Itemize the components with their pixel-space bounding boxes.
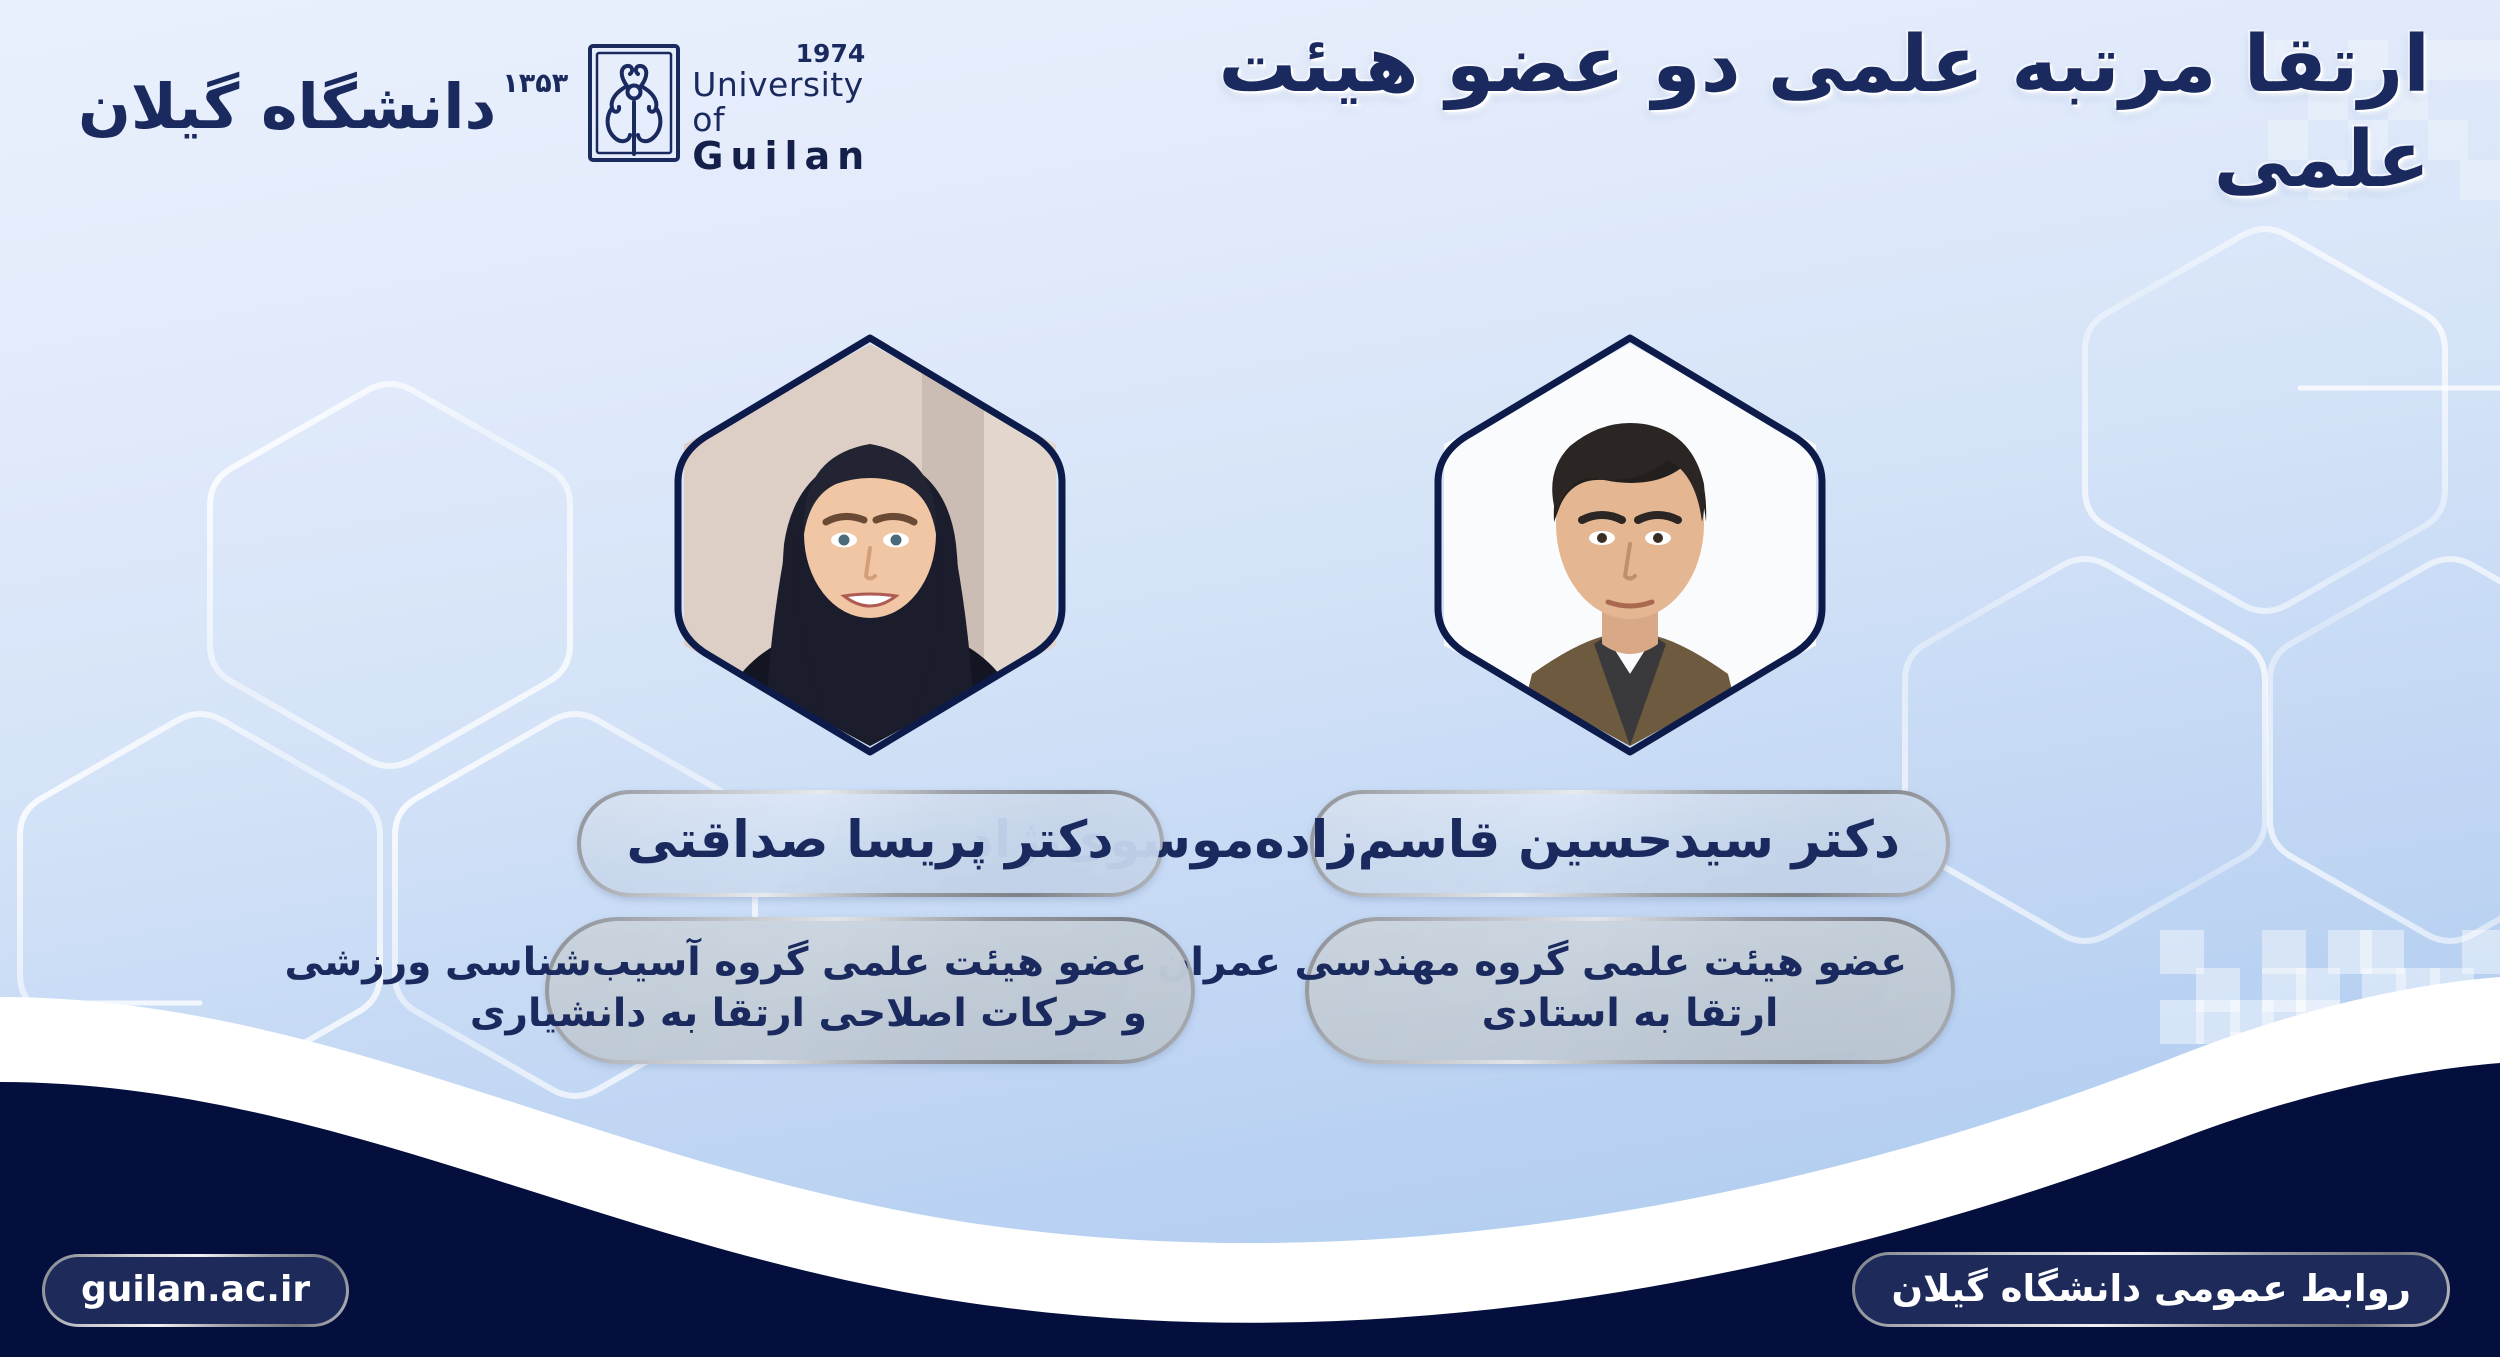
logo-university-word: University of [692, 68, 871, 137]
name-pill-left: دکتر پریسا صداقتی [577, 790, 1164, 897]
logo-name-en: Guilan [692, 137, 871, 177]
person-name-right: دکتر سیدحسین قاسم‌زاده‌موسوی‌نژاد [1360, 812, 1900, 871]
person-card-left: دکتر پریسا صداقتی عضو هیئت علمی گروه آسی… [490, 330, 1250, 1064]
name-pill-right: دکتر سیدحسین قاسم‌زاده‌موسوی‌نژاد [1310, 790, 1950, 897]
photo-frame-right [1430, 330, 1830, 760]
person-card-right: دکتر سیدحسین قاسم‌زاده‌موسوی‌نژاد عضو هی… [1250, 330, 2010, 1064]
person-description-line-1-right: عضو هیئت علمی گروه مهندسی عمران [1353, 937, 1907, 988]
portrait-photo-left [684, 344, 1056, 746]
university-logo: دانشگاه گیلان ۱۳۵۳ [78, 38, 738, 168]
banner-footer: guilan.ac.ir روابط عمومی دانشگاه گیلان [0, 1217, 2500, 1357]
description-pill-left: عضو هیئت علمی گروه آسیب‌شناسی ورزشی و حر… [545, 917, 1195, 1064]
description-pill-right: عضو هیئت علمی گروه مهندسی عمران ارتقا به… [1305, 917, 1955, 1064]
guilan-university-emblem-icon [586, 42, 682, 164]
people-section: دکتر سیدحسین قاسم‌زاده‌موسوی‌نژاد عضو هی… [0, 330, 2500, 1064]
person-description-line-2-left: و حرکات اصلاحی ارتقا به دانشیاری [593, 988, 1147, 1039]
banner-header: دانشگاه گیلان ۱۳۵۳ [0, 0, 2500, 210]
public-relations-pill: روابط عمومی دانشگاه گیلان [1852, 1252, 2450, 1327]
person-description-line-2-right: ارتقا به استادی [1353, 988, 1907, 1039]
person-description-line-1-left: عضو هیئت علمی گروه آسیب‌شناسی ورزشی [593, 937, 1147, 988]
logo-name-fa: دانشگاه گیلان [78, 76, 496, 138]
logo-year-en: 1974 [796, 41, 866, 66]
website-url: guilan.ac.ir [81, 1269, 310, 1310]
public-relations-label: روابط عمومی دانشگاه گیلان [1891, 1267, 2411, 1310]
logo-year-fa: ۱۳۵۳ [502, 68, 568, 99]
logo-english-block: 1974 University of Guilan [692, 41, 871, 177]
portrait-photo-right [1444, 344, 1816, 746]
promotion-banner: دانشگاه گیلان ۱۳۵۳ [0, 0, 2500, 1357]
person-name-left: دکتر پریسا صداقتی [627, 812, 1114, 871]
page-title: ارتقا مرتبه علمی دو عضو هیئت علمی [1010, 18, 2430, 208]
photo-frame-left [670, 330, 1070, 760]
website-pill[interactable]: guilan.ac.ir [42, 1254, 349, 1327]
